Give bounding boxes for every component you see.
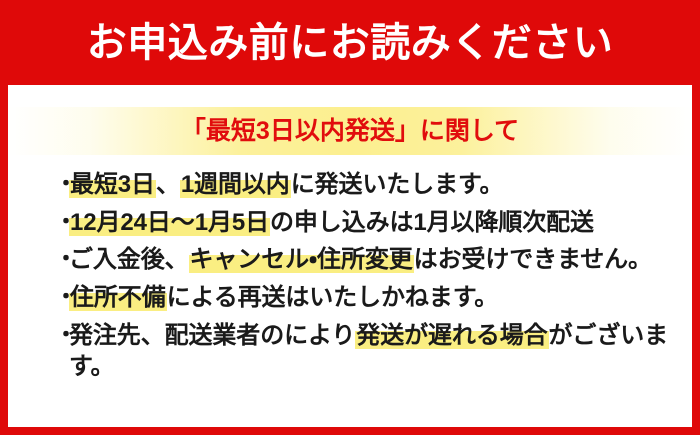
bullet-marker: ・ [55, 282, 69, 311]
highlighted-phrase: 12月24日〜1月5日 [69, 209, 270, 236]
notice-card: お申込み前にお読みください 「最短3日以内発送」に関して ・最短3日、1週間以内… [0, 0, 700, 435]
bullet-item-no-cancel-no-address-change: ・ご入金後、キャンセル・住所変更はお受けできません。 [8, 244, 692, 276]
plain-phrase: による再送はいたしかねます。 [167, 284, 498, 311]
notice-bullet-list: ・最短3日、1週間以内に発送いたします。・12月24日〜1月5日の申し込みは1月… [8, 155, 692, 389]
notice-header-title: お申込み前にお読みください [87, 23, 614, 63]
highlighted-phrase: 1週間以内 [180, 171, 291, 198]
bullet-marker: ・ [55, 207, 69, 236]
bullet-item-label: ご入金後、キャンセル・住所変更はお受けできません。 [69, 244, 686, 276]
bullet-item-possible-shipping-delay: ・発注先、配送業者のにより発送が遅れる場合がございます。 [8, 320, 692, 383]
highlighted-phrase: 住所不備 [69, 284, 167, 311]
subtitle-text: 「最短3日以内発送」に関して [181, 119, 519, 144]
highlighted-phrase: キャンセル・住所変更 [189, 246, 414, 273]
subtitle-highlight-band: 「最短3日以内発送」に関して [8, 107, 692, 155]
plain-phrase: 、 [156, 171, 180, 198]
bullet-item-label: 最短3日、1週間以内に発送いたします。 [69, 169, 686, 201]
bullet-marker: ・ [55, 320, 69, 349]
highlighted-phrase: 発送が遅れる場合 [355, 322, 548, 349]
bullet-item-no-reship-bad-address: ・住所不備による再送はいたしかねます。 [8, 282, 692, 314]
bullet-item-shipping-window: ・最短3日、1週間以内に発送いたします。 [8, 169, 692, 201]
highlighted-phrase: 最短3日 [69, 171, 156, 198]
plain-phrase: の申し込みは1月以降順次配送 [270, 209, 594, 236]
notice-header-banner: お申込み前にお読みください [8, 0, 692, 85]
bullet-item-label: 発注先、配送業者のにより発送が遅れる場合がございます。 [69, 320, 686, 383]
bullet-marker: ・ [55, 244, 69, 273]
bullet-item-label: 住所不備による再送はいたしかねます。 [69, 282, 686, 314]
bullet-item-year-end-orders: ・12月24日〜1月5日の申し込みは1月以降順次配送 [8, 207, 692, 239]
plain-phrase: に発送いたします。 [291, 171, 504, 198]
plain-phrase: はお受けできません。 [414, 246, 652, 273]
plain-phrase: 発注先、配送業者のにより [69, 322, 355, 349]
plain-phrase: ご入金後、 [69, 246, 189, 273]
notice-body: 「最短3日以内発送」に関して ・最短3日、1週間以内に発送いたします。・12月2… [8, 85, 692, 427]
bullet-item-label: 12月24日〜1月5日の申し込みは1月以降順次配送 [69, 207, 686, 239]
bullet-marker: ・ [55, 169, 69, 198]
